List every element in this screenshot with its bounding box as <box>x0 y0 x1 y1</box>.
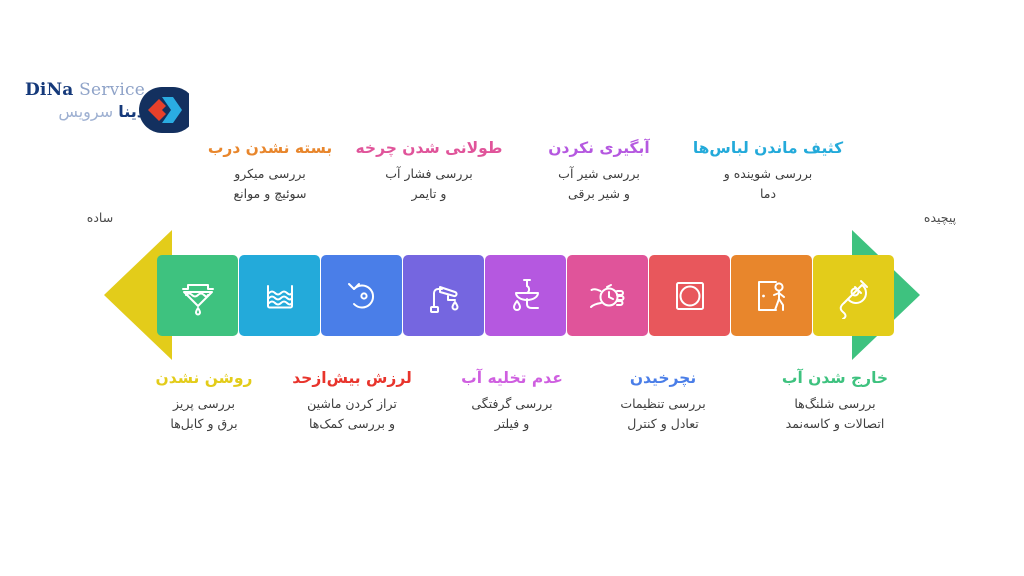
callout-description: بررسی فشار آب و تایمر <box>349 164 509 203</box>
callout-desc-line1: بررسی شیر آب <box>558 166 640 181</box>
callout-description: بررسی میکرو سوئیچ و موانع <box>190 164 350 203</box>
callout-title: طولانی شدن چرخه <box>349 139 509 158</box>
callout-description: بررسی شوینده و دما <box>688 164 848 203</box>
callout-desc-line1: بررسی فشار آب <box>385 166 472 181</box>
callout-title: لرزش بیش‌ازحد <box>272 369 432 388</box>
power-plug-icon <box>831 273 877 319</box>
door-person-icon <box>749 273 795 319</box>
leaking-drum-icon <box>175 273 221 319</box>
callout-desc-line2: دما <box>760 186 776 201</box>
washing-machine-drum-icon <box>667 273 713 319</box>
faucet-drip-icon <box>421 273 467 319</box>
callout-desc-line1: بررسی تنظیمات <box>620 396 705 411</box>
callout-top-long-cycle: طولانی شدن چرخه بررسی فشار آب و تایمر <box>349 139 509 203</box>
callout-description: بررسی گرفتگی و فیلتر <box>432 394 592 433</box>
callout-title: خارج شدن آب <box>745 369 925 388</box>
callout-title: کثیف ماندن لباس‌ها <box>688 139 848 158</box>
axis-label-simple: ساده <box>55 210 145 225</box>
callout-desc-line2: و فیلتر <box>495 416 530 431</box>
callout-bottom-no-spin: نچرخیدن بررسی تنظیمات تعادل و کنترل <box>583 369 743 433</box>
brand-name-latin: DiNa Service <box>5 80 145 100</box>
callout-desc-line2: اتصالات و کاسه‌نمد <box>786 416 885 431</box>
tile-washing-drum[interactable] <box>649 255 730 336</box>
axis-label-complex: پیچیده <box>895 210 985 225</box>
tile-power-plug[interactable] <box>813 255 894 336</box>
brand-logo: DiNa Service دینا سرویس <box>20 80 200 140</box>
tile-long-cycle[interactable] <box>567 255 648 336</box>
callout-desc-line1: بررسی میکرو <box>234 166 306 181</box>
callout-desc-line1: تراز کردن ماشین <box>307 396 397 411</box>
tile-no-fill[interactable] <box>485 255 566 336</box>
rotation-arrow-icon <box>339 273 385 319</box>
brand-name-latin-primary: DiNa <box>25 80 74 100</box>
dina-chevron-logo-icon <box>135 83 189 137</box>
callout-top-dirty-clothes: کثیف ماندن لباس‌ها بررسی شوینده و دما <box>688 139 848 203</box>
callout-title: نچرخیدن <box>583 369 743 388</box>
tile-no-spin[interactable] <box>321 255 402 336</box>
callout-bottom-no-power: روشن نشدن بررسی پریز برق و کابل‌ها <box>124 369 284 433</box>
brand-logo-text: DiNa Service دینا سرویس <box>5 80 145 121</box>
callout-title: عدم تخلیه آب <box>432 369 592 388</box>
callout-desc-line2: و تایمر <box>412 186 447 201</box>
tile-standing-water[interactable] <box>239 255 320 336</box>
callout-title: روشن نشدن <box>124 369 284 388</box>
water-basin-icon <box>257 273 303 319</box>
brand-name-persian-secondary: سرویس <box>58 102 113 121</box>
callout-desc-line2: تعادل و کنترل <box>627 416 698 431</box>
callout-top-door: بسته نشدن درب بررسی میکرو سوئیچ و موانع <box>190 139 350 203</box>
callout-description: بررسی پریز برق و کابل‌ها <box>124 394 284 433</box>
callout-title: آبگیری نکردن <box>519 139 679 158</box>
callout-description: بررسی شیر آب و شیر برقی <box>519 164 679 203</box>
tile-faucet[interactable] <box>403 255 484 336</box>
callout-desc-line1: بررسی گرفتگی <box>471 396 552 411</box>
severity-spectrum-strip <box>0 230 1024 360</box>
callout-bottom-no-drain: عدم تخلیه آب بررسی گرفتگی و فیلتر <box>432 369 592 433</box>
callout-desc-line2: و شیر برقی <box>568 186 630 201</box>
callout-desc-line2: و بررسی کمک‌ها <box>309 416 395 431</box>
callout-desc-line2: برق و کابل‌ها <box>170 416 237 431</box>
callout-description: بررسی شلنگ‌ها اتصالات و کاسه‌نمد <box>745 394 925 433</box>
fault-tile-row <box>158 255 894 336</box>
callout-desc-line1: بررسی شلنگ‌ها <box>794 396 875 411</box>
sink-drain-icon <box>503 273 549 319</box>
callout-description: تراز کردن ماشین و بررسی کمک‌ها <box>272 394 432 433</box>
callout-bottom-water-leak: خارج شدن آب بررسی شلنگ‌ها اتصالات و کاسه… <box>745 369 925 433</box>
brand-name-persian: دینا سرویس <box>5 102 145 121</box>
callout-desc-line1: بررسی شوینده و <box>724 166 813 181</box>
tile-water-leak[interactable] <box>157 255 238 336</box>
callout-top-no-fill: آبگیری نکردن بررسی شیر آب و شیر برقی <box>519 139 679 203</box>
callout-desc-line2: سوئیچ و موانع <box>234 186 307 201</box>
callout-title: بسته نشدن درب <box>190 139 350 158</box>
callout-desc-line1: بررسی پریز <box>173 396 235 411</box>
hand-stopwatch-icon <box>585 273 631 319</box>
callout-bottom-vibration: لرزش بیش‌ازحد تراز کردن ماشین و بررسی کم… <box>272 369 432 433</box>
callout-description: بررسی تنظیمات تعادل و کنترل <box>583 394 743 433</box>
tile-door-blocked[interactable] <box>731 255 812 336</box>
